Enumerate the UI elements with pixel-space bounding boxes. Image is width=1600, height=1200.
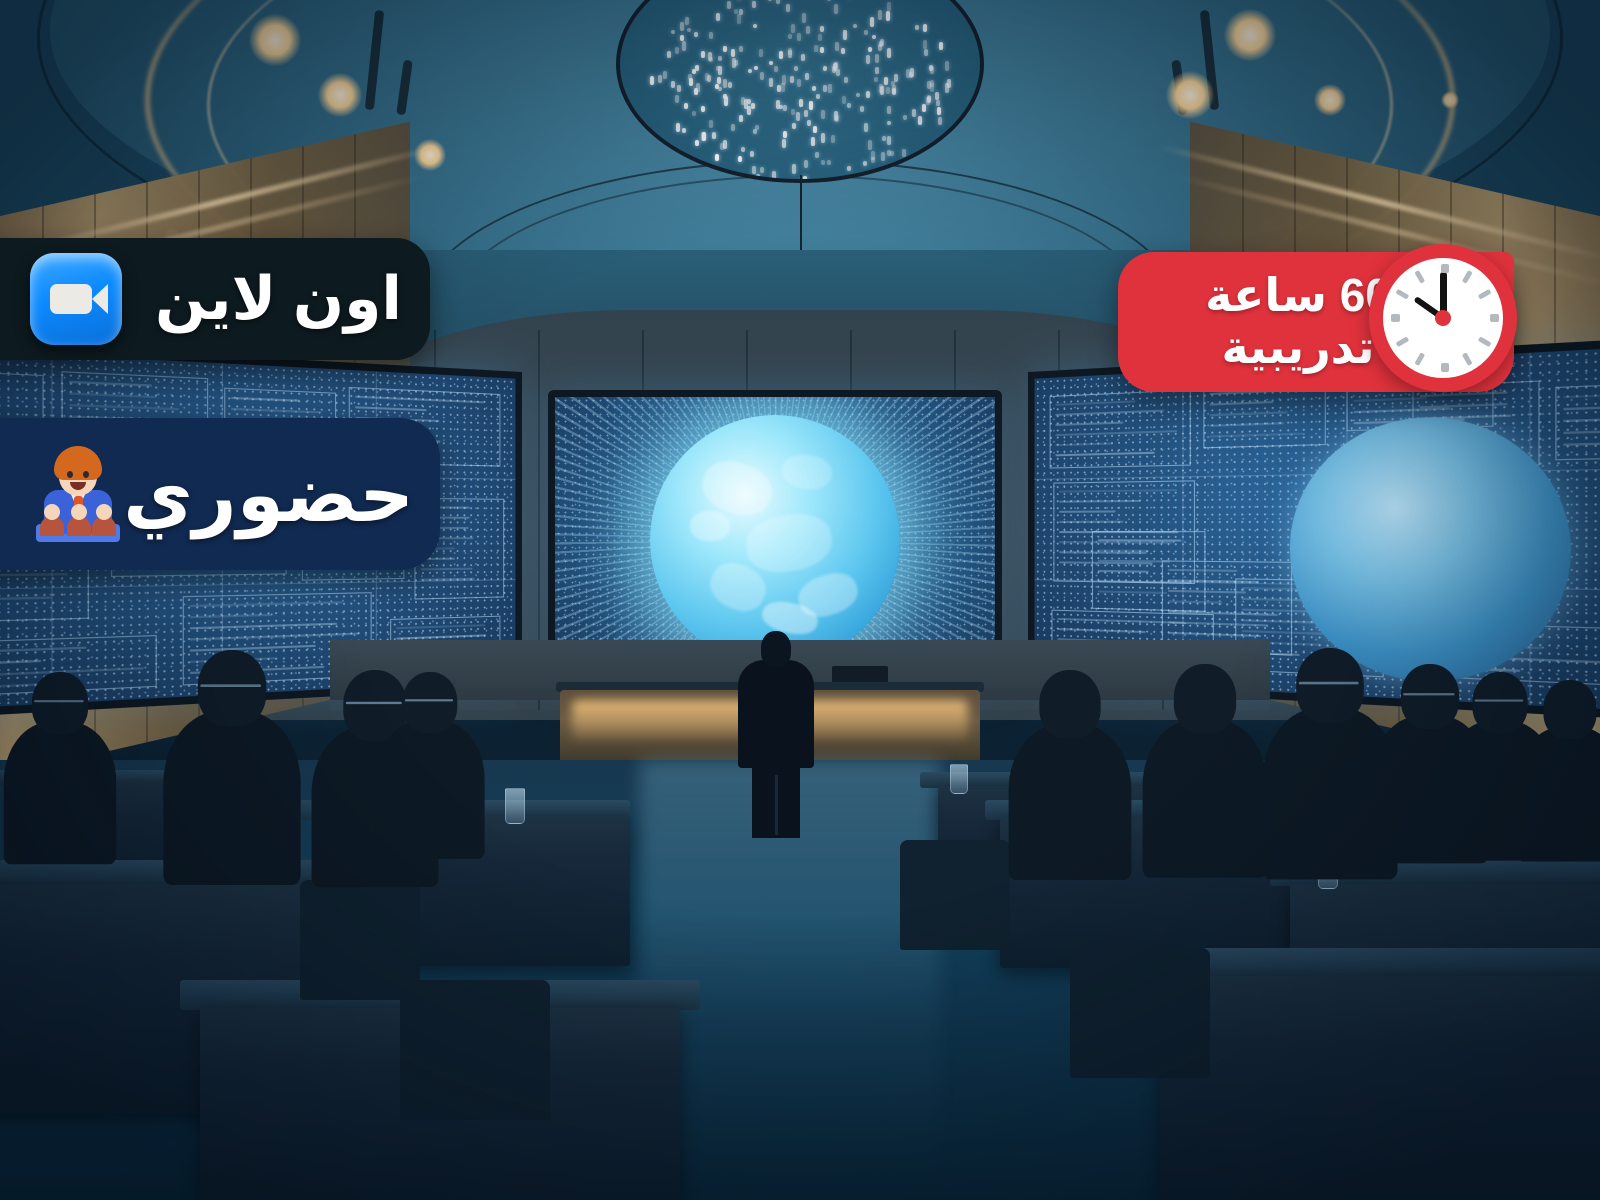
chandelier-star [927, 81, 931, 89]
chandelier-star [894, 74, 898, 82]
chandelier-star [812, 86, 816, 91]
audience-member-glasses [1403, 693, 1455, 695]
chandelier-star [875, 54, 879, 63]
chandelier-star [938, 117, 942, 125]
chandelier-star [821, 110, 825, 119]
chandelier-star [692, 69, 696, 74]
badge-online[interactable]: اون لاين [0, 238, 430, 360]
chandelier-star [945, 83, 949, 93]
clock-tick [1477, 336, 1491, 347]
chandelier-star [841, 48, 845, 54]
chandelier-star [737, 14, 741, 24]
chandelier-star [676, 123, 680, 132]
chandelier-star [804, 110, 808, 116]
chandelier-star [823, 85, 827, 92]
clock-tick [1395, 289, 1409, 300]
clock-tick [1391, 314, 1400, 322]
chandelier-star [866, 55, 870, 64]
chandelier-star [792, 164, 796, 174]
chandelier-star [887, 150, 891, 156]
clock-tick [1477, 289, 1491, 300]
chandelier-star [875, 67, 879, 74]
chandelier-star [799, 99, 803, 107]
chandelier-star [796, 112, 800, 121]
ceiling-downlight [249, 14, 301, 66]
instructor-eye-right [83, 471, 89, 478]
chandelier-star [820, 47, 824, 52]
chandelier-star [887, 106, 891, 114]
chandelier-star [685, 17, 689, 25]
instructor-hair [54, 446, 102, 480]
clock-tick [1414, 352, 1425, 366]
audience-member-glasses [34, 700, 84, 702]
chandelier-star [835, 115, 839, 122]
chandelier-star [715, 154, 719, 161]
chandelier-star [923, 40, 927, 49]
chandelier-star [802, 13, 806, 23]
chandelier-star [871, 157, 875, 163]
chandelier-star [887, 48, 891, 58]
chandelier-star [874, 77, 878, 82]
audience-member-glasses [200, 684, 261, 687]
video-camera-body [50, 284, 92, 314]
chandelier-star [777, 85, 781, 92]
chandelier-star [815, 152, 819, 158]
chandelier-star [844, 77, 848, 83]
chandelier-star [752, 166, 756, 174]
chandelier-star [732, 58, 736, 68]
globe-landmass [690, 511, 730, 541]
chandelier-star [937, 107, 941, 115]
display-text-line [1098, 539, 1181, 541]
chandelier-star [774, 66, 778, 72]
chandelier-star [842, 96, 846, 104]
chandelier-star [738, 156, 742, 162]
chandelier-star [836, 69, 840, 76]
chandelier-star [922, 104, 926, 112]
chandelier-star [864, 30, 868, 35]
chandelier-star [712, 132, 716, 140]
chandelier-star [843, 30, 847, 39]
chandelier-star [658, 75, 662, 83]
attendee-head-2 [71, 504, 87, 520]
chandelier-star [882, 136, 886, 141]
chandelier-star [739, 46, 743, 53]
chandelier-star [759, 49, 763, 56]
audience-member-torso [375, 720, 484, 859]
chandelier-star [783, 131, 787, 138]
chandelier-star [675, 47, 679, 54]
chandelier-star [776, 0, 780, 4]
chandelier-star [794, 66, 798, 72]
chair [900, 840, 1010, 950]
chandelier-star [718, 66, 722, 76]
audience-member-head [1543, 680, 1596, 739]
chandelier-star [782, 75, 786, 85]
chandelier-star [866, 91, 870, 98]
chandelier-star [791, 24, 795, 33]
audience-member-head [198, 650, 267, 727]
chandelier-star [887, 2, 891, 11]
audience-member-torso [1143, 719, 1268, 877]
chandelier-star [878, 44, 882, 51]
clock-center-pin [1435, 310, 1451, 326]
chandelier-star [701, 51, 705, 58]
chandelier-star [790, 76, 794, 83]
chandelier-star [828, 84, 832, 93]
audience-member-torso [1009, 724, 1132, 880]
chandelier-star [915, 25, 919, 30]
chandelier-star [667, 51, 671, 58]
chandelier-star [801, 54, 805, 61]
audience-member-torso [163, 711, 300, 885]
chandelier-star [741, 97, 745, 105]
chandelier-star [739, 115, 743, 123]
audience-member-head [1174, 664, 1236, 734]
ceiling-downlight [1166, 71, 1214, 119]
chandelier-star [924, 49, 928, 56]
chandelier-star [717, 77, 721, 84]
chandelier-star [776, 100, 780, 109]
chandelier-star [731, 124, 735, 130]
chandelier-star [863, 161, 867, 166]
chandelier-star [663, 71, 667, 80]
chandelier-star [797, 79, 801, 87]
chandelier-star [680, 22, 684, 30]
chandelier-star [769, 78, 773, 86]
chandelier-star [675, 95, 679, 103]
chandelier-star [727, 1, 731, 9]
presenter-leg-gap [775, 775, 778, 835]
chandelier-star [878, 10, 882, 20]
chandelier-star [856, 93, 860, 97]
chandelier-star [831, 135, 835, 143]
badge-online-label: اون لاين [155, 264, 402, 334]
chandelier-star [694, 88, 698, 96]
chandelier-star [728, 82, 732, 88]
chandelier-star [804, 160, 808, 168]
chandelier-star [753, 24, 757, 29]
chandelier-star [935, 92, 939, 100]
chandelier-star [748, 69, 752, 73]
chandelier-star [709, 32, 713, 40]
chandelier-star [860, 106, 864, 113]
chandelier-star [887, 121, 891, 125]
chandelier-star [723, 46, 727, 52]
audience-member-head [1296, 648, 1364, 723]
chandelier-star [677, 85, 681, 92]
chandelier-star [820, 26, 824, 33]
chandelier-star [682, 128, 686, 133]
chandelier-star [834, 4, 838, 14]
chandelier-star [827, 160, 831, 165]
clock-face [1383, 258, 1503, 378]
chandelier-star [918, 116, 922, 125]
chandelier-star [903, 115, 907, 120]
chandelier-star [688, 74, 692, 80]
audience-member-glasses [1299, 682, 1359, 685]
chandelier-star [723, 79, 727, 88]
chandelier-star [847, 103, 851, 107]
chandelier-star [723, 140, 727, 149]
chair [1070, 948, 1210, 1078]
chandelier-star [803, 176, 807, 183]
chandelier-star [788, 34, 792, 39]
chandelier-star [747, 99, 751, 104]
clock-icon [1369, 244, 1517, 392]
display-text-line [1059, 510, 1116, 512]
audience-member-head [1472, 672, 1527, 733]
audience-member-glasses [405, 699, 453, 701]
clock-tick [1461, 352, 1472, 366]
audience-member-head [1401, 664, 1459, 729]
chandelier-star [791, 109, 795, 114]
chandelier-star [814, 45, 818, 52]
chandelier-star [754, 66, 758, 70]
chandelier-star [760, 167, 764, 173]
instructor-eye-left [67, 471, 73, 478]
chandelier-star [868, 140, 872, 149]
video-camera-lens [92, 284, 108, 314]
chandelier-star [682, 41, 686, 51]
audience-member-torso [1517, 727, 1600, 862]
badge-onsite-label: حضوري [123, 450, 414, 539]
clock-tick [1461, 270, 1472, 284]
water-glass [950, 764, 968, 794]
clock-tick [1414, 270, 1425, 284]
globe-landmass [780, 452, 834, 493]
chandelier-star [783, 105, 787, 111]
presenter-head [761, 631, 791, 667]
water-glass [505, 788, 525, 824]
audience-member-head [32, 672, 88, 735]
display-text-line [1059, 521, 1123, 523]
chandelier-star [872, 35, 876, 39]
chandelier-star [788, 48, 792, 55]
chandelier-star [684, 103, 688, 109]
chandelier-star [832, 66, 836, 73]
chandelier-star [702, 132, 706, 140]
chandelier-star [881, 152, 885, 161]
ceiling-downlight [1441, 91, 1459, 109]
badge-onsite[interactable]: حضوري [0, 418, 440, 570]
chandelier-star [709, 57, 713, 62]
audience-member-head [1039, 670, 1100, 738]
chandelier-star [926, 97, 930, 105]
chandelier-star [750, 151, 754, 158]
chandelier-star [792, 123, 796, 129]
chandelier-star [806, 26, 810, 34]
chandelier-star [945, 61, 949, 71]
chandelier-star [695, 140, 699, 146]
chandelier-star [835, 42, 839, 51]
ceiling-downlight [318, 73, 362, 117]
chandelier-star [821, 133, 825, 142]
chandelier-star [782, 139, 786, 148]
chandelier-star [797, 33, 801, 41]
chandelier-star [902, 149, 906, 157]
chandelier-star [751, 103, 755, 109]
chandelier-star [807, 120, 811, 127]
chandelier-star [692, 111, 696, 116]
chandelier-star [715, 84, 719, 89]
chandelier-star [723, 94, 727, 99]
chandelier-star [650, 76, 654, 85]
display-text-line [1098, 549, 1149, 551]
chandelier-star [760, 72, 764, 80]
chandelier-star [886, 11, 890, 21]
chandelier-star [768, 0, 772, 1]
chandelier-star [912, 109, 916, 117]
chandelier-star [701, 106, 705, 113]
chandelier-star [769, 61, 773, 66]
chandelier-star [853, 24, 857, 29]
chandelier-star [847, 166, 851, 170]
globe-graphic [650, 415, 900, 665]
chandelier-star [687, 28, 691, 32]
chandelier-star [936, 100, 940, 107]
chandelier-star [884, 77, 888, 85]
chandelier-star [813, 126, 817, 133]
chandelier-star [671, 81, 675, 88]
chandelier-star [892, 85, 896, 94]
globe-landmass [742, 508, 836, 578]
chandelier-star [864, 123, 868, 132]
chandelier-star [772, 171, 776, 179]
desk-base [1160, 976, 1600, 1200]
audience-member-glasses [1475, 700, 1524, 702]
chandelier-star [868, 47, 872, 52]
chandelier-star [818, 34, 822, 41]
chandelier-star [786, 4, 790, 12]
attendee-head-1 [44, 504, 60, 520]
chandelier-star [809, 101, 813, 110]
chandelier-star [910, 68, 914, 77]
chandelier-star [731, 49, 735, 57]
chandelier-star [779, 51, 783, 59]
ceiling-downlight [1314, 84, 1346, 116]
audience-member-glasses [346, 702, 402, 704]
chandelier-star [827, 0, 831, 1]
chandelier-star [923, 24, 927, 31]
chandelier-star [870, 17, 874, 27]
promo-scene: اون لاين حضوري 60 ساعة تدريبية [0, 0, 1600, 1200]
presenter-torso [738, 660, 814, 768]
clock-tick [1441, 264, 1449, 273]
clock-tick [1490, 314, 1499, 322]
chandelier-star [886, 87, 890, 94]
video-camera-icon [30, 253, 122, 345]
chandelier-star [718, 56, 722, 60]
chandelier-star [671, 30, 675, 34]
chandelier-star [709, 120, 713, 128]
attendee-head-3 [96, 504, 112, 520]
chandelier-star [694, 32, 698, 37]
chandelier-star [805, 73, 809, 79]
clock-tick [1441, 363, 1449, 372]
chandelier-star [816, 94, 820, 99]
chandelier-star [741, 147, 745, 152]
audience-member-torso [4, 722, 116, 865]
chandelier-star [753, 129, 757, 134]
ceiling-downlight [1224, 9, 1276, 61]
chandelier-star [939, 42, 943, 50]
audience-member-head [403, 672, 458, 733]
chandelier-star [887, 136, 891, 146]
chandelier-star [716, 13, 720, 20]
clock-tick [1395, 336, 1409, 347]
chair [400, 980, 550, 1120]
chandelier-star [707, 75, 711, 82]
chandelier-star [823, 66, 827, 71]
chandelier-star [821, 160, 825, 165]
chandelier-star [752, 1, 756, 8]
chandelier-star [811, 137, 815, 146]
chandelier-star [879, 84, 883, 93]
presenter-audience-icon [26, 442, 123, 546]
